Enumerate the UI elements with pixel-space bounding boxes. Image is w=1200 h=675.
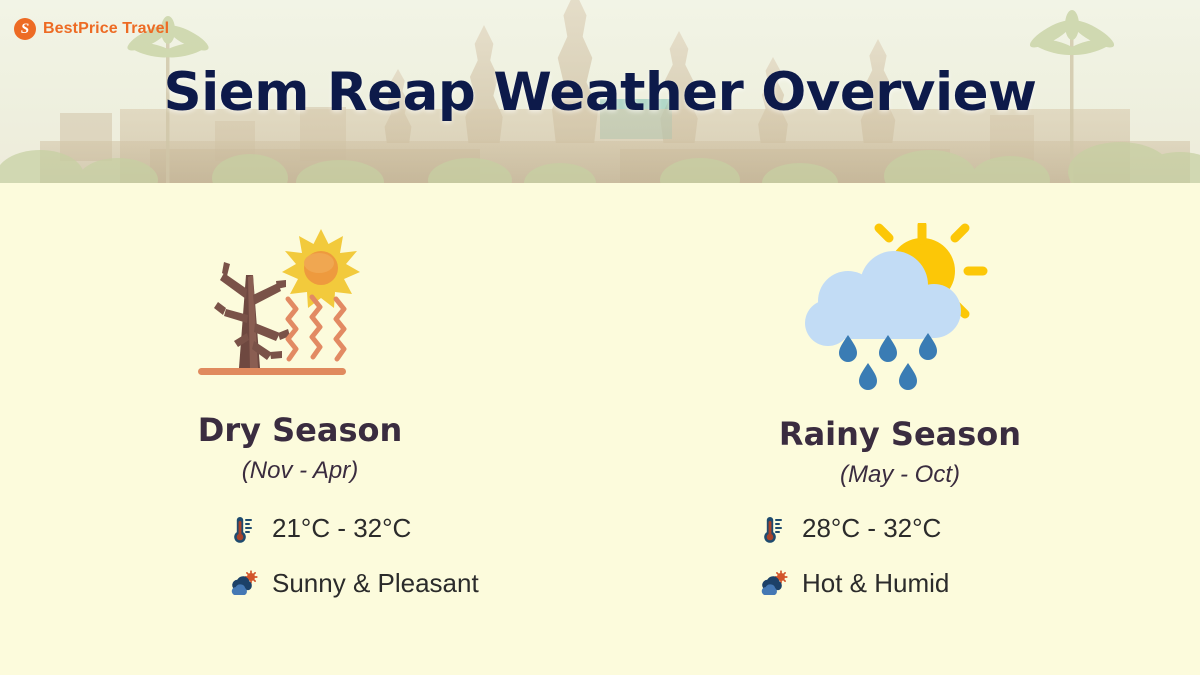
fact-condition: Sunny & Pleasant — [0, 568, 600, 599]
bestprice-swirl-icon — [14, 18, 36, 40]
fact-condition: Hot & Humid — [600, 568, 1200, 599]
season-card-dry: Dry Season (Nov - Apr) — [0, 183, 600, 675]
season-card-rainy: Rainy Season (May - Oct) — [600, 183, 1200, 675]
bare-tree-icon — [214, 262, 290, 368]
fact-temperature: 28°C - 32°C — [600, 513, 1200, 544]
fact-condition-text: Hot & Humid — [802, 568, 949, 599]
season-title-dry: Dry Season — [0, 411, 600, 449]
season-months-dry: (Nov - Apr) — [0, 457, 600, 485]
season-title-rainy: Rainy Season — [600, 415, 1200, 453]
brand-logo[interactable]: BestPrice Travel — [14, 18, 169, 40]
raindrops-icon — [839, 333, 937, 390]
rainy-season-illustration — [600, 223, 1200, 393]
fact-temperature-text: 28°C - 32°C — [802, 513, 941, 544]
rain-cloud-sun-icon — [790, 223, 1010, 393]
seasons-container: Dry Season (Nov - Apr) — [0, 183, 1200, 675]
sun-behind-cloud-icon — [760, 569, 788, 599]
thermometer-icon — [230, 514, 258, 544]
fact-temperature-text: 21°C - 32°C — [272, 513, 411, 544]
season-facts-rainy: 28°C - 32°C — [600, 513, 1200, 599]
weather-overview-slide: BestPrice Travel Siem Reap Weather Overv… — [0, 0, 1200, 675]
sun-icon — [282, 229, 360, 308]
dry-season-illustration — [0, 223, 600, 393]
thermometer-icon — [760, 514, 788, 544]
header-banner: BestPrice Travel Siem Reap Weather Overv… — [0, 0, 1200, 183]
page-title: Siem Reap Weather Overview — [0, 62, 1200, 123]
fact-condition-text: Sunny & Pleasant — [272, 568, 479, 599]
brand-name: BestPrice Travel — [43, 20, 169, 38]
season-months-rainy: (May - Oct) — [600, 461, 1200, 489]
season-facts-dry: 21°C - 32°C — [0, 513, 600, 599]
heat-waves-icon — [288, 297, 344, 359]
fact-temperature: 21°C - 32°C — [0, 513, 600, 544]
sun-behind-cloud-icon — [230, 569, 258, 599]
dry-tree-sun-heat-icon — [190, 223, 410, 393]
